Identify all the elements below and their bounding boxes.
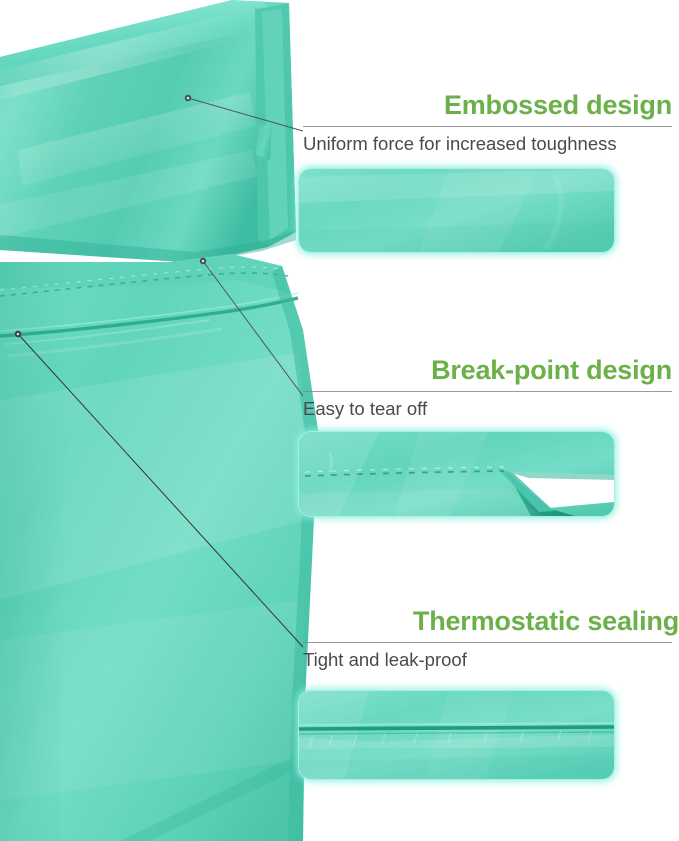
callout-heading: Thermostatic sealing (303, 608, 679, 635)
callout-rule (303, 126, 672, 127)
mailer-roll-lower (0, 254, 318, 841)
mailer-roll-upper (0, 0, 296, 263)
swatch-perforation-tear-line (298, 431, 615, 517)
callout-heading: Break-point design (303, 357, 672, 384)
callout-rule (303, 391, 672, 392)
callout-heading: Embossed design (303, 92, 672, 119)
callout-subtitle: Tight and leak-proof (303, 649, 679, 671)
swatch-smooth-embossed-surface (298, 168, 615, 253)
swatch-heat-seal-line (298, 690, 615, 780)
product-infographic: Embossed design Uniform force for increa… (0, 0, 679, 841)
callout-break-point-design: Break-point design Easy to tear off (303, 357, 672, 420)
callout-thermostatic-sealing: Thermostatic sealing Tight and leak-proo… (303, 608, 679, 671)
callout-rule (303, 642, 672, 643)
callout-subtitle: Easy to tear off (303, 398, 672, 420)
callout-embossed-design: Embossed design Uniform force for increa… (303, 92, 672, 155)
callout-subtitle: Uniform force for increased toughness (303, 133, 672, 155)
